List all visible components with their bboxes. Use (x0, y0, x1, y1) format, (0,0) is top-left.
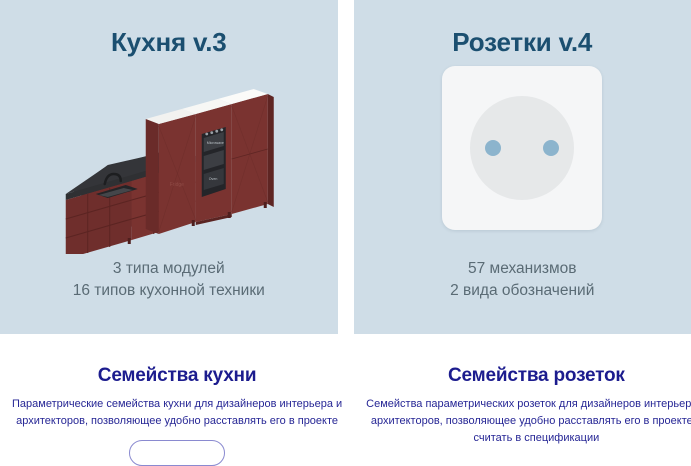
card-visual-sockets (354, 64, 691, 254)
card-stat-line: 16 типов кухонной техники (0, 280, 338, 302)
section-desc-line: Семейства параметрических розеток для ди… (366, 396, 691, 413)
card-stats-sockets: 57 механизмов 2 вида обозначений (354, 258, 691, 302)
card-stat-line: 57 механизмов (354, 258, 691, 280)
section-socket-families: Семейства розеток Семейства параметричес… (354, 334, 691, 447)
section-desc-sockets: Семейства параметрических розеток для ди… (354, 396, 691, 447)
section-desc-kitchen: Параметрические семейства кухни для диза… (0, 396, 354, 430)
section-desc-line: архитекторов, позволяющее удобно расстав… (12, 413, 342, 430)
kitchen-3d-render-icon: Fridge Microwave Oven (0, 64, 338, 254)
card-stats-kitchen: 3 типа модулей 16 типов кухонной техники (0, 258, 338, 302)
socket-plate (442, 66, 602, 230)
card-title-sockets: Розетки v.4 (354, 27, 691, 58)
kitchen-cta-button[interactable] (129, 440, 225, 466)
section-desc-line: архитекторов, позволяющее удобно расстав… (366, 413, 691, 430)
card-stat-line: 3 типа модулей (0, 258, 338, 280)
card-visual-kitchen: Fridge Microwave Oven (0, 64, 338, 254)
product-card-sockets[interactable]: Розетки v.4 57 механизмов 2 вида обознач… (354, 0, 691, 334)
sections-row: Семейства кухни Параметрические семейств… (0, 334, 691, 447)
page-root: Кухня v.3 (0, 0, 691, 447)
socket-recess (470, 96, 574, 200)
section-desc-line: Параметрические семейства кухни для диза… (12, 396, 342, 413)
socket-hole-right (543, 140, 559, 156)
svg-text:Oven: Oven (209, 177, 218, 181)
product-card-kitchen[interactable]: Кухня v.3 (0, 0, 338, 334)
card-stat-line: 2 вида обозначений (354, 280, 691, 302)
section-title-kitchen: Семейства кухни (0, 365, 354, 387)
svg-text:Microwave: Microwave (207, 141, 224, 145)
section-title-sockets: Семейства розеток (354, 365, 691, 387)
socket-hole-left (485, 140, 501, 156)
card-title-kitchen: Кухня v.3 (0, 27, 338, 58)
power-socket-illustration-icon (354, 64, 691, 254)
section-desc-line: считать в спецификации (366, 430, 691, 447)
section-kitchen-families: Семейства кухни Параметрические семейств… (0, 334, 354, 447)
product-cards-row: Кухня v.3 (0, 0, 691, 334)
svg-text:Fridge: Fridge (170, 182, 184, 188)
